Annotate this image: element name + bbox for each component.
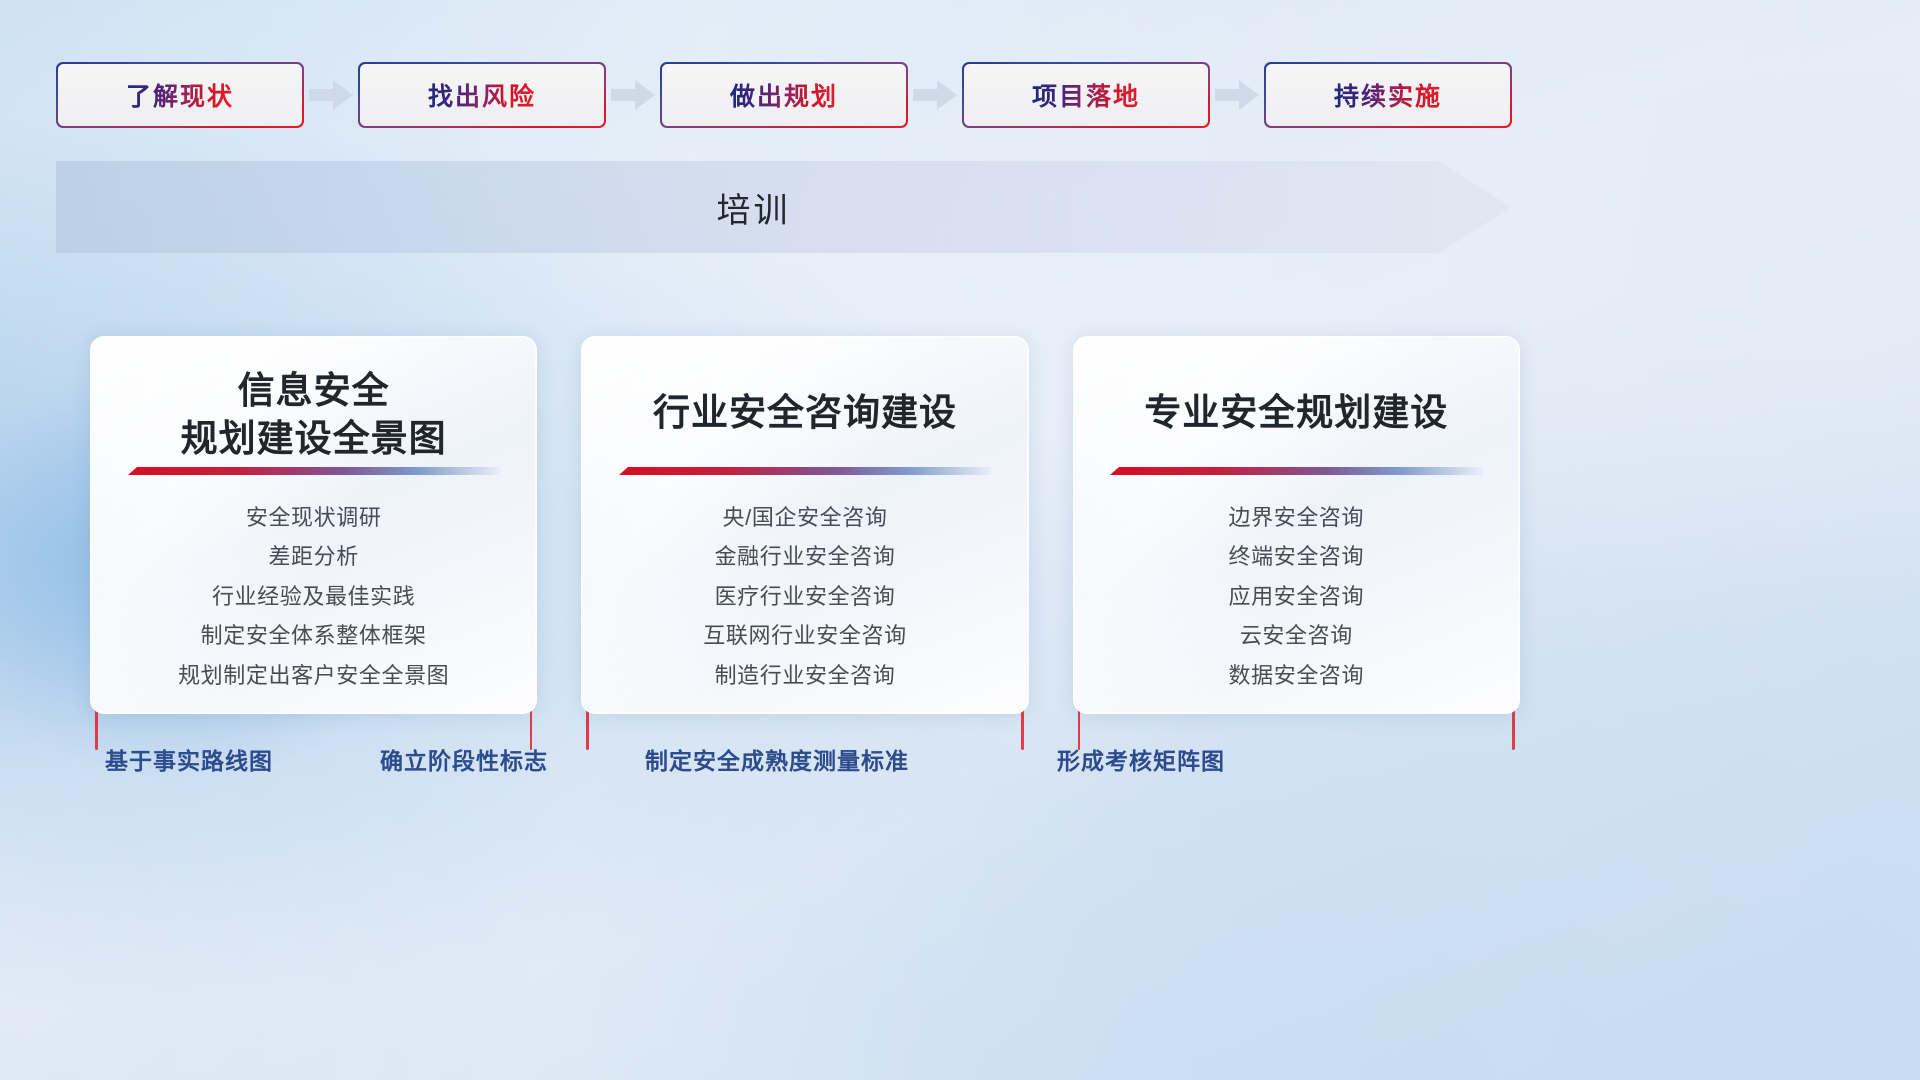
step-label-2: 找出风险 — [428, 77, 536, 113]
list-item: 规划制定出客户安全全景图 — [178, 662, 449, 690]
card-list-2: 央/国企安全咨询 金融行业安全咨询 医疗行业安全咨询 互联网行业安全咨询 制造行… — [600, 504, 1009, 690]
step-box-1[interactable]: 了解现状 — [56, 62, 304, 128]
step-label-3: 做出规划 — [730, 77, 838, 113]
list-item: 数据安全咨询 — [1229, 662, 1365, 690]
card-2[interactable]: 行业安全咨询建设 央/国企安全咨询 — [581, 336, 1028, 714]
footer-labels-row: 基于事实路线图 确立阶段性标志 制定安全成熟度测量标准 形成考核矩阵图 — [0, 742, 1920, 786]
cards-row: 信息安全 规划建设全景图 安全现状调研 — [90, 336, 1520, 714]
step-arrow-icon-1 — [304, 62, 358, 128]
list-item: 金融行业安全咨询 — [715, 543, 896, 571]
list-item: 制造行业安全咨询 — [715, 662, 896, 690]
step-inner-2: 找出风险 — [360, 64, 605, 127]
footer-label-1: 基于事实路线图 — [105, 742, 273, 776]
list-item: 边界安全咨询 — [1229, 504, 1365, 532]
list-item: 央/国企安全咨询 — [723, 504, 888, 532]
step-label-5: 持续实施 — [1334, 77, 1442, 113]
step-arrow-icon-2 — [606, 62, 660, 128]
footer-label-2: 确立阶段性标志 — [380, 742, 548, 776]
list-item: 互联网行业安全咨询 — [703, 622, 906, 650]
card-wrapper-3: 专业安全规划建设 边界安全咨询 — [1073, 336, 1520, 714]
card-title-3: 专业安全规划建设 — [1144, 389, 1448, 437]
process-steps-row: 了解现状 找出风险 做出规划 项目落地 — [56, 62, 1508, 128]
step-inner-4: 项目落地 — [964, 64, 1209, 127]
footer-label-3: 制定安全成熟度测量标准 — [645, 742, 909, 776]
card-1[interactable]: 信息安全 规划建设全景图 安全现状调研 — [90, 336, 537, 714]
list-item: 行业经验及最佳实践 — [212, 583, 415, 611]
list-item: 终端安全咨询 — [1229, 543, 1365, 571]
list-item: 医疗行业安全咨询 — [715, 583, 896, 611]
step-label-4: 项目落地 — [1032, 77, 1140, 113]
list-item: 云安全咨询 — [1240, 622, 1353, 650]
training-banner: 培训 — [56, 161, 1511, 253]
card-divider-2 — [619, 467, 991, 478]
card-list-1: 安全现状调研 差距分析 行业经验及最佳实践 制定安全体系整体框架 规划制定出客户… — [109, 504, 518, 690]
banner-title: 培训 — [56, 161, 1451, 253]
step-box-3[interactable]: 做出规划 — [660, 62, 908, 128]
step-label-1: 了解现状 — [126, 77, 234, 113]
card-wrapper-1: 信息安全 规划建设全景图 安全现状调研 — [90, 336, 537, 714]
list-item: 差距分析 — [268, 543, 358, 571]
card-3[interactable]: 专业安全规划建设 边界安全咨询 — [1073, 336, 1520, 714]
card-title-1: 信息安全 规划建设全景图 — [181, 367, 447, 463]
step-inner-5: 持续实施 — [1266, 64, 1511, 127]
card-list-3: 边界安全咨询 终端安全咨询 应用安全咨询 云安全咨询 数据安全咨询 — [1092, 504, 1501, 690]
card-wrapper-2: 行业安全咨询建设 央/国企安全咨询 — [581, 336, 1028, 714]
step-box-5[interactable]: 持续实施 — [1264, 62, 1512, 128]
step-box-4[interactable]: 项目落地 — [962, 62, 1210, 128]
footer-label-4: 形成考核矩阵图 — [1057, 742, 1225, 776]
list-item: 制定安全体系整体框架 — [201, 622, 427, 650]
step-inner-3: 做出规划 — [662, 64, 907, 127]
card-divider-3 — [1110, 467, 1482, 478]
card-title-2: 行业安全咨询建设 — [653, 389, 957, 437]
step-box-2[interactable]: 找出风险 — [358, 62, 606, 128]
step-arrow-icon-4 — [1210, 62, 1264, 128]
step-inner-1: 了解现状 — [58, 64, 303, 127]
list-item: 应用安全咨询 — [1229, 583, 1365, 611]
step-arrow-icon-3 — [908, 62, 962, 128]
list-item: 安全现状调研 — [246, 504, 382, 532]
card-divider-1 — [128, 467, 500, 478]
